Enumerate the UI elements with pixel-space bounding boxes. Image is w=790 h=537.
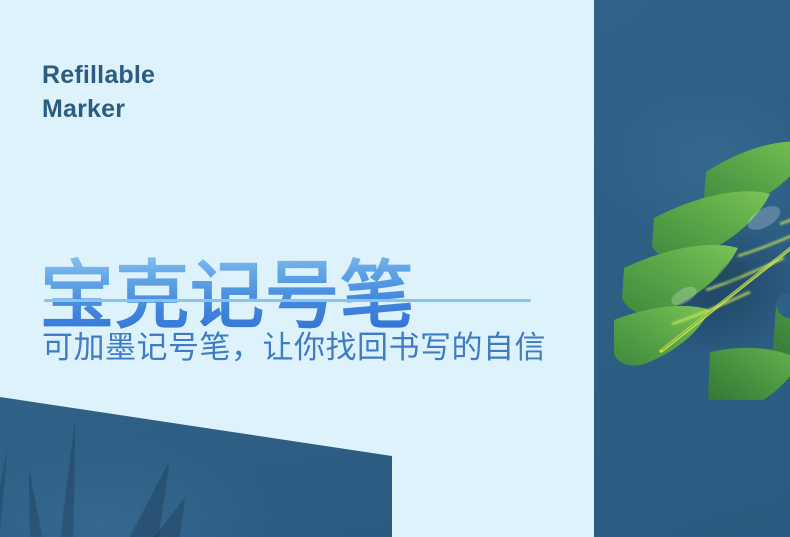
leaf-container: [594, 0, 790, 537]
title-divider: [44, 299, 531, 302]
product-banner: Refillable Marker 宝克记号笔 可加墨记号笔，让你找回书写的自信: [0, 0, 790, 537]
eyebrow-line-1: Refillable: [42, 58, 462, 92]
eyebrow-line-2: Marker: [42, 92, 462, 126]
angled-shape-fill: [0, 390, 396, 537]
grass-blade-shadow: [22, 468, 42, 537]
right-blue-panel: [594, 0, 790, 537]
subtitle: 可加墨记号笔，让你找回书写的自信: [42, 326, 546, 370]
eyebrow-text: Refillable Marker: [42, 58, 462, 126]
shape-texture: [0, 390, 396, 537]
grass-blade-shadow: [60, 420, 82, 537]
bottom-left-angled-shape: [0, 390, 396, 537]
monstera-leaf-icon: [614, 100, 790, 400]
grass-blade-shadow: [0, 448, 12, 537]
